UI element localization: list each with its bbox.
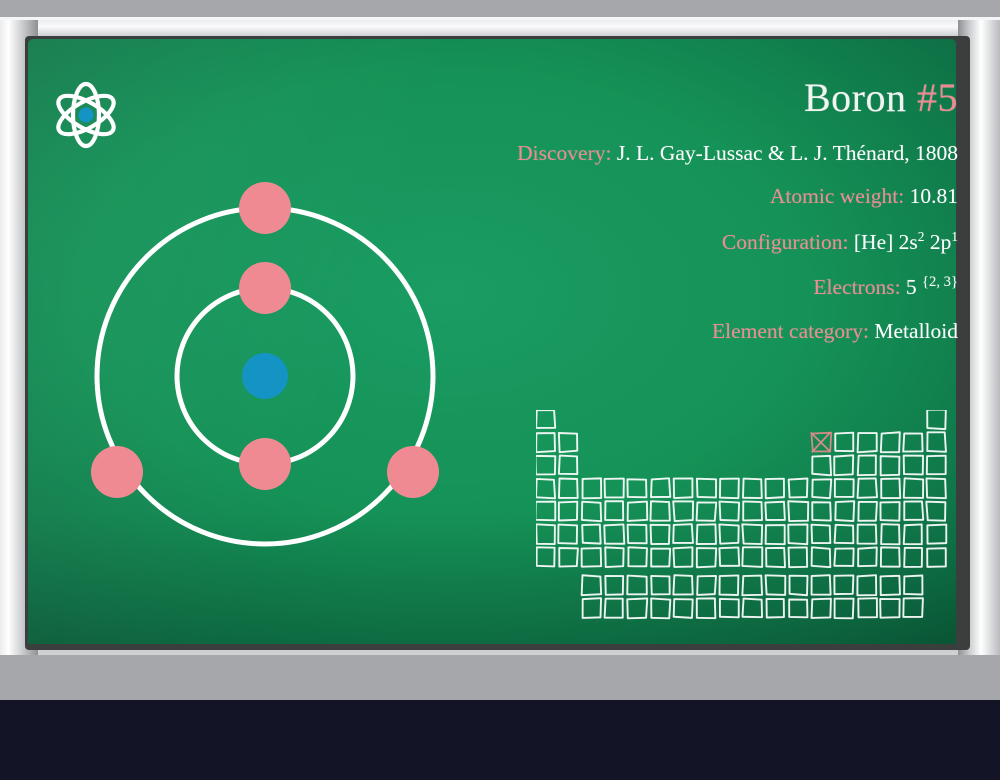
periodic-cell bbox=[881, 479, 900, 499]
periodic-cell bbox=[559, 433, 577, 452]
electron bbox=[387, 446, 439, 498]
periodic-cell bbox=[673, 547, 692, 567]
periodic-cell bbox=[858, 547, 877, 566]
periodic-cell bbox=[858, 525, 877, 544]
periodic-cell bbox=[881, 524, 899, 544]
periodic-cell bbox=[881, 432, 900, 452]
periodic-cell bbox=[835, 599, 854, 619]
periodic-cell bbox=[583, 598, 601, 618]
periodic-cell bbox=[628, 547, 647, 566]
periodic-cell bbox=[627, 576, 647, 595]
periodic-cell bbox=[536, 479, 555, 498]
periodic-cell bbox=[812, 502, 831, 520]
periodic-cell bbox=[628, 502, 648, 521]
periodic-cell bbox=[765, 502, 785, 520]
periodic-cell bbox=[812, 599, 831, 618]
periodic-cell bbox=[835, 433, 853, 452]
periodic-cell bbox=[583, 478, 602, 498]
periodic-cell bbox=[537, 547, 555, 566]
electrons-shell-distribution: {2, 3} bbox=[922, 274, 958, 290]
info-row-category: Element category: Metalloid bbox=[470, 321, 958, 343]
bohr-model-diagram bbox=[60, 150, 480, 550]
periodic-cell bbox=[742, 547, 762, 567]
board-frame-bevel bbox=[0, 17, 1000, 20]
info-row-discovery: Discovery: J. L. Gay-Lussac & L. J. Thén… bbox=[470, 143, 958, 165]
periodic-cell bbox=[903, 433, 922, 451]
atom-icon bbox=[48, 73, 124, 157]
periodic-cell bbox=[789, 576, 807, 596]
periodic-cell bbox=[559, 502, 577, 521]
periodic-cell bbox=[697, 502, 717, 520]
element-name: Boron bbox=[804, 75, 907, 120]
periodic-cell bbox=[536, 524, 555, 544]
periodic-cell bbox=[858, 478, 877, 497]
periodic-cell bbox=[651, 549, 670, 567]
element-number: #5 bbox=[917, 75, 958, 120]
periodic-cell bbox=[904, 478, 923, 498]
periodic-cell bbox=[812, 525, 831, 543]
periodic-cell bbox=[673, 501, 693, 521]
info-row-electrons: Electrons: 5 {2, 3} bbox=[470, 275, 958, 299]
periodic-cell bbox=[927, 548, 946, 567]
periodic-cell bbox=[559, 548, 578, 567]
configuration-superscript-2: 1 bbox=[951, 229, 958, 244]
element-info-panel: Boron #5 Discovery: J. L. Gay-Lussac & L… bbox=[470, 76, 970, 343]
periodic-cell bbox=[835, 525, 854, 543]
periodic-cell bbox=[674, 599, 693, 618]
electron bbox=[239, 262, 291, 314]
periodic-cell bbox=[766, 548, 785, 567]
periodic-cell bbox=[835, 479, 854, 497]
periodic-cell bbox=[857, 575, 876, 595]
periodic-cell bbox=[881, 456, 900, 475]
periodic-cell bbox=[927, 456, 946, 474]
info-row-configuration: Configuration: [He] 2s2 2p1 bbox=[470, 230, 958, 254]
periodic-cell bbox=[789, 599, 807, 617]
periodic-cell bbox=[881, 547, 900, 566]
periodic-cell bbox=[788, 501, 808, 521]
periodic-cell bbox=[789, 479, 808, 498]
nucleus bbox=[242, 353, 288, 399]
periodic-cell bbox=[605, 576, 623, 595]
periodic-cell bbox=[742, 524, 762, 544]
periodic-cell bbox=[880, 599, 899, 618]
periodic-cell bbox=[674, 478, 693, 498]
periodic-cell bbox=[582, 525, 600, 544]
periodic-cell bbox=[834, 575, 853, 594]
atomic-weight-value: 10.81 bbox=[910, 184, 958, 208]
periodic-cell bbox=[604, 524, 624, 543]
periodic-cell bbox=[926, 502, 945, 521]
periodic-cell bbox=[697, 548, 716, 567]
periodic-cell bbox=[858, 433, 877, 452]
configuration-label: Configuration: bbox=[722, 230, 849, 254]
periodic-cell bbox=[559, 456, 577, 474]
periodic-cell bbox=[927, 432, 946, 452]
periodic-cell bbox=[880, 502, 899, 521]
periodic-cell bbox=[903, 598, 923, 617]
periodic-cell bbox=[559, 478, 578, 497]
periodic-cell bbox=[789, 547, 808, 567]
watermark-footer: VectorStock® VectorStock.com/24432787 bbox=[0, 700, 1000, 780]
discovery-value: J. L. Gay-Lussac & L. J. Thénard, 1808 bbox=[617, 141, 958, 165]
periodic-cell bbox=[812, 479, 831, 498]
periodic-cell bbox=[743, 479, 762, 498]
periodic-cell bbox=[536, 410, 555, 428]
periodic-cell bbox=[558, 525, 577, 544]
periodic-cell bbox=[719, 524, 738, 543]
periodic-cell bbox=[697, 576, 716, 595]
periodic-cell bbox=[742, 599, 762, 618]
electrons-label: Electrons: bbox=[813, 276, 900, 300]
info-row-atomic-weight: Atomic weight: 10.81 bbox=[470, 186, 958, 208]
periodic-cell bbox=[605, 479, 624, 498]
periodic-cell bbox=[697, 598, 716, 618]
periodic-cell bbox=[743, 501, 762, 520]
periodic-cell bbox=[720, 599, 739, 617]
periodic-cell bbox=[927, 525, 946, 544]
configuration-value-2: 2p bbox=[924, 230, 951, 254]
periodic-cell bbox=[904, 524, 922, 544]
periodic-cell bbox=[766, 575, 786, 595]
periodic-cell bbox=[834, 548, 853, 566]
periodic-cell bbox=[582, 502, 601, 522]
periodic-cell bbox=[858, 455, 876, 475]
periodic-cell bbox=[536, 456, 555, 475]
periodic-cell bbox=[812, 547, 831, 567]
periodic-cell bbox=[673, 575, 692, 594]
category-value: Metalloid bbox=[874, 319, 958, 343]
periodic-cell bbox=[927, 410, 946, 429]
periodic-cell bbox=[720, 479, 739, 499]
periodic-cell bbox=[628, 525, 647, 544]
periodic-cell bbox=[926, 478, 945, 498]
periodic-cell bbox=[536, 502, 555, 521]
page-title: Boron #5 bbox=[470, 76, 958, 121]
atomic-weight-label: Atomic weight: bbox=[770, 184, 904, 208]
periodic-cell bbox=[858, 502, 877, 521]
configuration-value: [He] 2s bbox=[854, 230, 918, 254]
periodic-cell bbox=[582, 548, 602, 567]
periodic-cell bbox=[651, 598, 670, 618]
periodic-cell bbox=[697, 479, 716, 498]
periodic-table-minimap bbox=[536, 410, 956, 632]
periodic-cell bbox=[742, 576, 762, 596]
periodic-cell bbox=[651, 525, 670, 544]
periodic-cell bbox=[835, 501, 854, 521]
periodic-cell bbox=[605, 599, 623, 618]
electron bbox=[239, 182, 291, 234]
periodic-cell bbox=[605, 547, 623, 567]
periodic-cell bbox=[651, 478, 670, 497]
illustration-root: Boron #5 Discovery: J. L. Gay-Lussac & L… bbox=[0, 0, 1000, 780]
periodic-cell bbox=[858, 598, 877, 617]
category-label: Element category: bbox=[712, 319, 869, 343]
electron bbox=[91, 446, 143, 498]
periodic-cell bbox=[719, 547, 739, 565]
periodic-cell bbox=[904, 501, 923, 519]
periodic-cell bbox=[904, 456, 923, 475]
periodic-cell bbox=[720, 575, 739, 595]
periodic-cell bbox=[766, 479, 784, 499]
periodic-cell bbox=[812, 456, 831, 475]
periodic-cell bbox=[904, 548, 922, 567]
periodic-cell bbox=[881, 576, 900, 595]
periodic-cell bbox=[697, 524, 716, 544]
periodic-cell bbox=[627, 479, 646, 497]
periodic-cell bbox=[834, 455, 853, 475]
periodic-cell bbox=[651, 576, 669, 595]
periodic-cell bbox=[766, 525, 785, 544]
periodic-cell bbox=[812, 575, 831, 594]
electron bbox=[239, 438, 291, 490]
periodic-cell bbox=[673, 524, 693, 543]
periodic-cell bbox=[767, 599, 784, 618]
periodic-cell bbox=[904, 575, 922, 594]
periodic-cell bbox=[720, 502, 740, 521]
periodic-cell bbox=[788, 525, 807, 545]
electrons-value: 5 bbox=[906, 276, 917, 300]
discovery-label: Discovery: bbox=[517, 141, 611, 165]
periodic-cell bbox=[605, 501, 623, 520]
periodic-cell bbox=[627, 598, 647, 618]
periodic-cell bbox=[536, 433, 555, 452]
highlight-cross-icon bbox=[811, 432, 830, 451]
periodic-cell bbox=[650, 501, 669, 520]
periodic-cell bbox=[582, 575, 602, 595]
